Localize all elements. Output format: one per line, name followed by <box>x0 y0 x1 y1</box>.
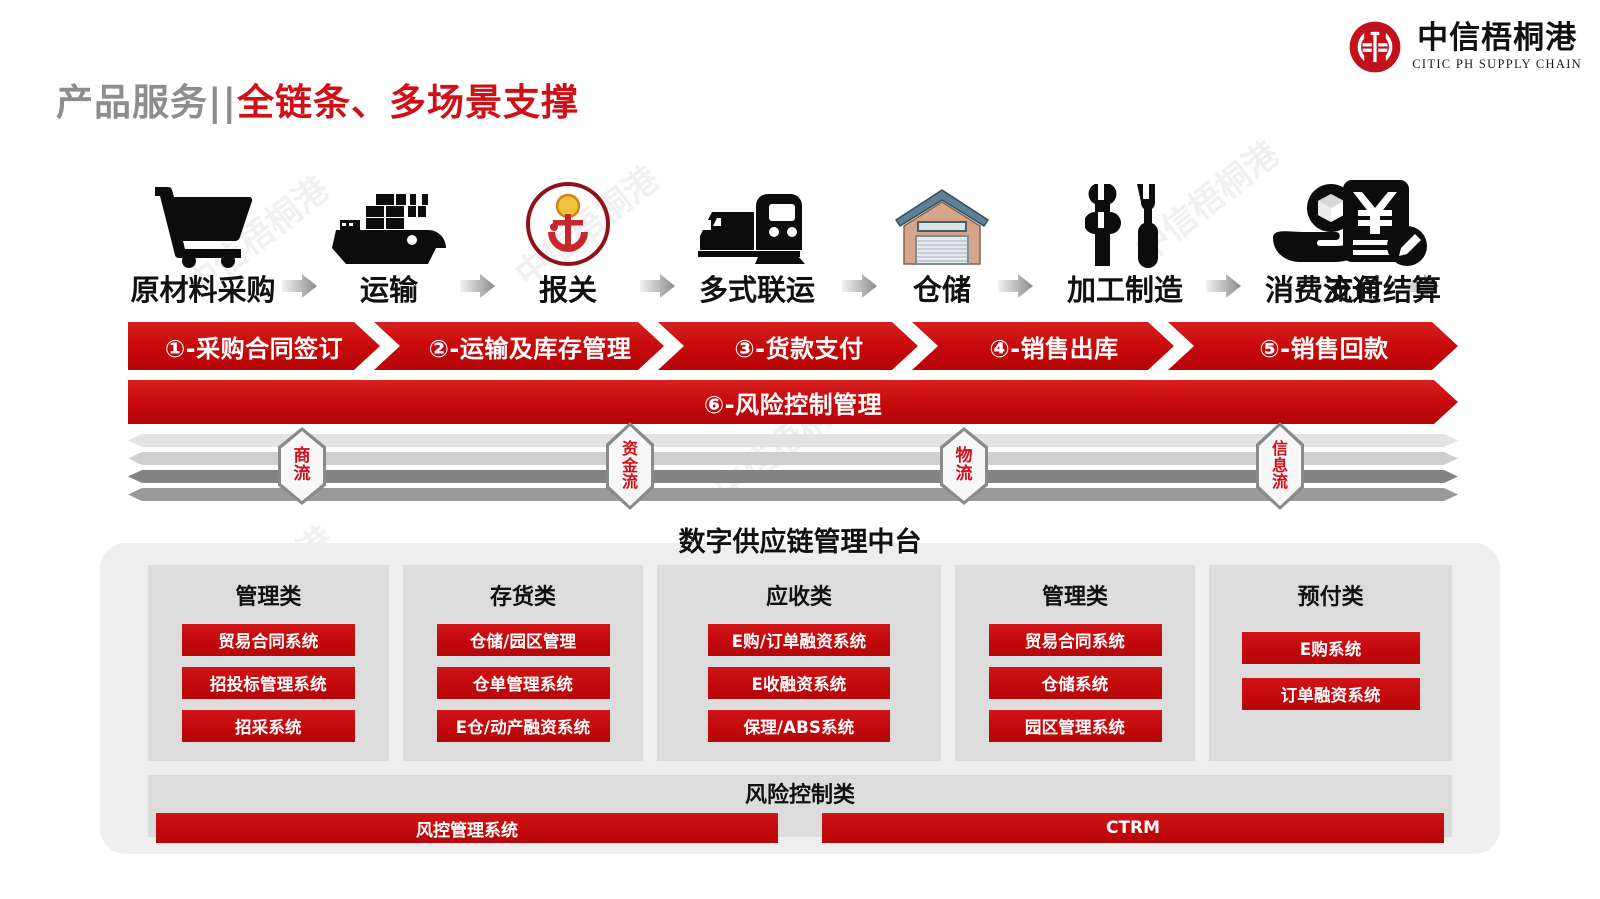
flow-label-logistics[interactable]: 物 流 <box>940 427 988 505</box>
train-icon <box>696 176 818 268</box>
category-title: 预付类 <box>1298 579 1364 611</box>
chevron-right-icon <box>840 273 880 299</box>
category-receivables: 应收类 E购/订单融资系统 E收融资系统 保理/ABS系统 <box>657 565 940 761</box>
brand-name-cn: 中信梧桐港 <box>1417 23 1577 54</box>
page-title-prefix: 产品服务 <box>56 81 208 124</box>
chevron-step-3[interactable]: ③-货款支付 <box>658 322 918 370</box>
stage-label: 支付结算 <box>1325 276 1441 305</box>
stage-processing-manufacturing[interactable]: 加工制造 <box>1050 176 1200 305</box>
page-title: 产品服务||全链条、多场景支撑 <box>56 72 579 126</box>
yuan-invoice-pen-icon <box>1337 176 1429 268</box>
flow-label-information[interactable]: 信 息 流 <box>1256 422 1304 510</box>
platform-panel: 管理类 贸易合同系统 招投标管理系统 招采系统 存货类 仓储/园区管理 仓单管理… <box>100 543 1500 854</box>
category-management-1: 管理类 贸易合同系统 招投标管理系统 招采系统 <box>148 565 389 761</box>
warehouse-icon <box>892 176 992 268</box>
system-button-risk-management[interactable]: 风控管理系统 <box>156 813 778 843</box>
stage-label: 运输 <box>360 276 418 305</box>
stage-label: 多式联运 <box>699 276 815 305</box>
system-button[interactable]: 招投标管理系统 <box>182 667 355 699</box>
category-title: 存货类 <box>490 579 556 611</box>
system-button[interactable]: E购/订单融资系统 <box>708 624 890 656</box>
system-button[interactable]: 保理/ABS系统 <box>708 710 890 742</box>
chevron-right-icon <box>1204 273 1244 299</box>
process-chevron-band: ①-采购合同签订 ②-运输及库存管理 ③-货款支付 ④-销售出库 ⑤-销售回款 <box>128 322 1458 370</box>
stage-payment-settlement[interactable]: 支付结算 <box>1308 176 1458 305</box>
chevron-right-icon <box>638 273 678 299</box>
shopping-cart-icon <box>153 176 253 268</box>
chevron-step-2[interactable]: ②-运输及库存管理 <box>374 322 664 370</box>
stage-label: 仓储 <box>913 276 971 305</box>
chevron-right-icon <box>280 273 320 299</box>
category-title: 管理类 <box>1042 579 1108 611</box>
system-button-ctrm[interactable]: CTRM <box>822 813 1444 843</box>
category-title: 管理类 <box>235 579 301 611</box>
chevron-step-4[interactable]: ④-销售出库 <box>912 322 1174 370</box>
flow-label-capital[interactable]: 资 金 流 <box>606 422 654 510</box>
stage-label: 原材料采购 <box>130 276 275 305</box>
brand-name-en: CITIC PH SUPPLY CHAIN <box>1412 58 1582 71</box>
category-title: 应收类 <box>766 579 832 611</box>
flow-bars-group: 商 流 资 金 流 物 流 信 息 流 <box>128 432 1458 500</box>
flow-char: 流 <box>956 466 973 484</box>
anchor-circle-icon <box>524 176 612 268</box>
system-button[interactable]: E购系统 <box>1242 632 1420 664</box>
chevron-right-icon <box>996 273 1036 299</box>
stage-label: 报关 <box>539 276 597 305</box>
flow-char: 流 <box>1272 474 1288 491</box>
risk-control-banner[interactable]: ⑥-风险控制管理 <box>128 380 1458 424</box>
risk-category-title: 风险控制类 <box>148 775 1452 809</box>
system-button[interactable]: E收融资系统 <box>708 667 890 699</box>
system-button[interactable]: 仓单管理系统 <box>437 667 610 699</box>
flow-char: 流 <box>622 474 638 491</box>
chevron-right-icon <box>458 273 498 299</box>
flow-char: 流 <box>294 466 311 484</box>
category-prepayment: 预付类 E购系统 订单融资系统 <box>1209 565 1452 761</box>
system-button[interactable]: 订单融资系统 <box>1242 678 1420 710</box>
chevron-step-1[interactable]: ①-采购合同签订 <box>128 322 380 370</box>
citic-circle-logo-icon <box>1348 20 1402 74</box>
supply-chain-stages: 原材料采购 <box>128 160 1458 305</box>
category-management-2: 管理类 贸易合同系统 仓储系统 园区管理系统 <box>955 565 1196 761</box>
stage-label: 加工制造 <box>1067 276 1183 305</box>
platform-title: 数字供应链管理中台 <box>0 520 1600 559</box>
category-inventory: 存货类 仓储/园区管理 仓单管理系统 E仓/动产融资系统 <box>403 565 644 761</box>
system-button[interactable]: E仓/动产融资系统 <box>437 710 610 742</box>
system-button[interactable]: 仓储/园区管理 <box>437 624 610 656</box>
stage-raw-material-purchase[interactable]: 原材料采购 <box>128 176 278 305</box>
system-button[interactable]: 贸易合同系统 <box>989 624 1162 656</box>
cargo-ship-icon <box>326 176 452 268</box>
stage-transport[interactable]: 运输 <box>324 176 454 305</box>
system-button[interactable]: 园区管理系统 <box>989 710 1162 742</box>
system-button[interactable]: 仓储系统 <box>989 667 1162 699</box>
wrench-screwdriver-icon <box>1085 176 1165 268</box>
risk-category-row: 风险控制类 风控管理系统 CTRM <box>148 775 1452 837</box>
page-title-separator: || <box>208 81 237 124</box>
stage-warehousing[interactable]: 仓储 <box>880 176 1004 305</box>
system-button[interactable]: 招采系统 <box>182 710 355 742</box>
category-row: 管理类 贸易合同系统 招投标管理系统 招采系统 存货类 仓储/园区管理 仓单管理… <box>148 565 1452 761</box>
chevron-step-5[interactable]: ⑤-销售回款 <box>1168 322 1458 370</box>
stage-customs-declaration[interactable]: 报关 <box>502 176 634 305</box>
system-button[interactable]: 贸易合同系统 <box>182 624 355 656</box>
stage-multimodal-transport[interactable]: 多式联运 <box>682 176 832 305</box>
slide-root: 中信梧桐港 中信梧桐港 中信梧桐港 中信梧桐港 中信梧桐港 中信梧桐港 中信梧桐… <box>0 0 1600 899</box>
flow-label-commercial[interactable]: 商 流 <box>278 427 326 505</box>
page-title-highlight: 全链条、多场景支撑 <box>237 81 579 124</box>
brand-logo: 中信梧桐港 CITIC PH SUPPLY CHAIN <box>1348 20 1582 74</box>
